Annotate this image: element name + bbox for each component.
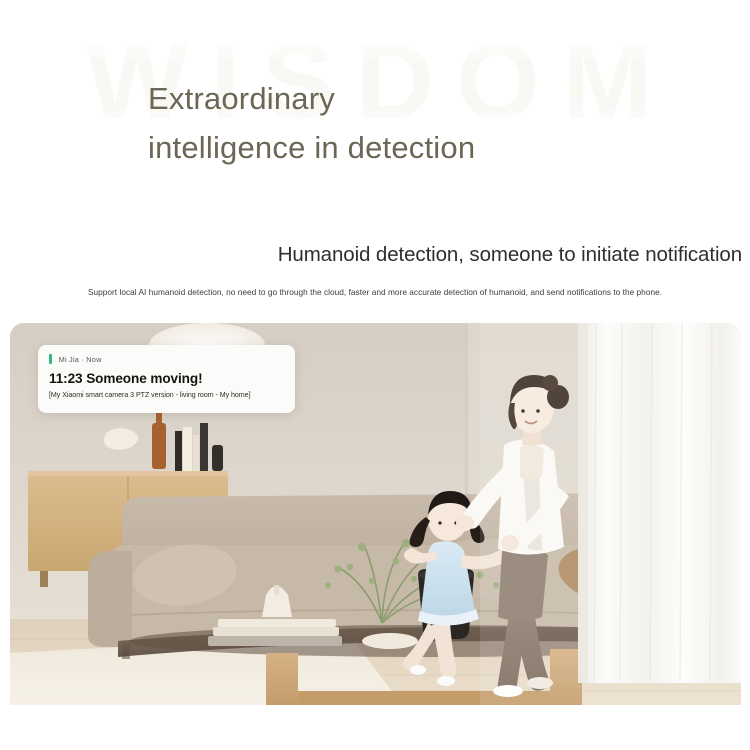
notification-app-name: Mi Jia · Now — [59, 355, 102, 364]
notification-card[interactable]: Mi Jia · Now 11:23 Someone moving! [My X… — [38, 345, 295, 413]
notification-device-meta: [My Xiaomi smart camera 3 PTZ version - … — [49, 391, 284, 399]
page-title: Extraordinary intelligence in detection — [148, 74, 708, 172]
hero-section: WISDOM Extraordinary intelligence in det… — [0, 0, 750, 322]
section-subheading: Humanoid detection, someone to initiate … — [0, 243, 750, 267]
accent-bar-icon — [49, 354, 52, 364]
notification-title: 11:23 Someone moving! — [49, 371, 284, 386]
notification-header-row: Mi Jia · Now — [49, 353, 284, 365]
headline-line-1: Extraordinary — [148, 74, 708, 123]
section-description: Support local AI humanoid detection, no … — [0, 287, 750, 297]
headline-line-2: intelligence in detection — [148, 123, 708, 172]
